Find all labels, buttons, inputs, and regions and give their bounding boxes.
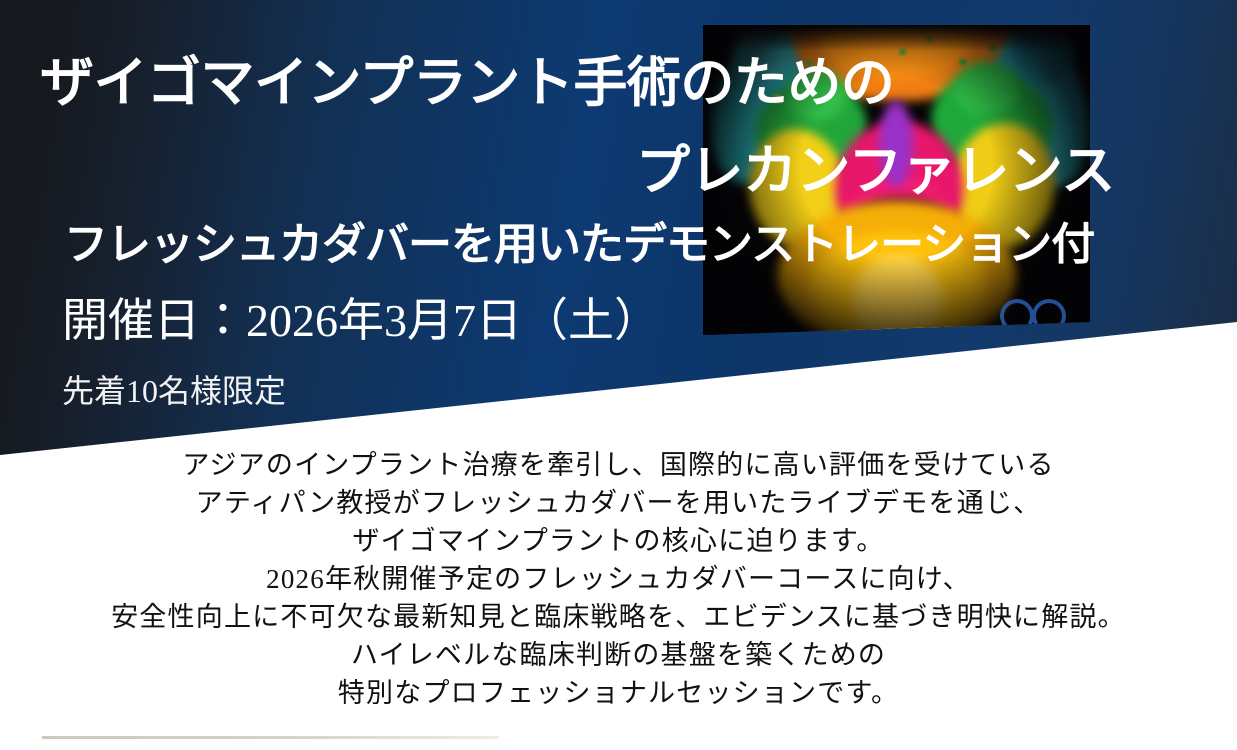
description-line: ザイゴマインプラントの核心に迫ります。 <box>0 522 1237 560</box>
bottom-divider <box>42 736 499 739</box>
headline-line-3: フレッシュカダバーを用いたデモンストレーション付 <box>64 208 1094 272</box>
headline-line-2: プレカンファレンス <box>636 126 1115 205</box>
description-paragraph: アジアのインプラント治療を牽引し、国際的に高い評価を受けている アティパン教授が… <box>0 446 1237 712</box>
description-line: 2026年秋開催予定のフレッシュカダバーコースに向け、 <box>0 560 1237 598</box>
description-line: 安全性向上に不可欠な最新知見と臨床戦略を、エビデンスに基づき明快に解説。 <box>0 598 1237 636</box>
poster-canvas: ザイゴマインプラント手術のための プレカンファレンス フレッシュカダバーを用いた… <box>0 0 1237 750</box>
description-line: アティパン教授がフレッシュカダバーを用いたライブデモを通じ、 <box>0 484 1237 522</box>
description-line: アジアのインプラント治療を牽引し、国際的に高い評価を受けている <box>0 446 1237 484</box>
description-line: 特別なプロフェッショナルセッションです。 <box>0 674 1237 712</box>
description-line: ハイレベルな臨床判断の基盤を築くための <box>0 636 1237 674</box>
headline-line-1: ザイゴマインプラント手術のための <box>40 38 894 117</box>
capacity-limit: 先着10名様限定 <box>62 366 286 412</box>
event-date: 開催日：2026年3月7日（土） <box>62 284 660 350</box>
